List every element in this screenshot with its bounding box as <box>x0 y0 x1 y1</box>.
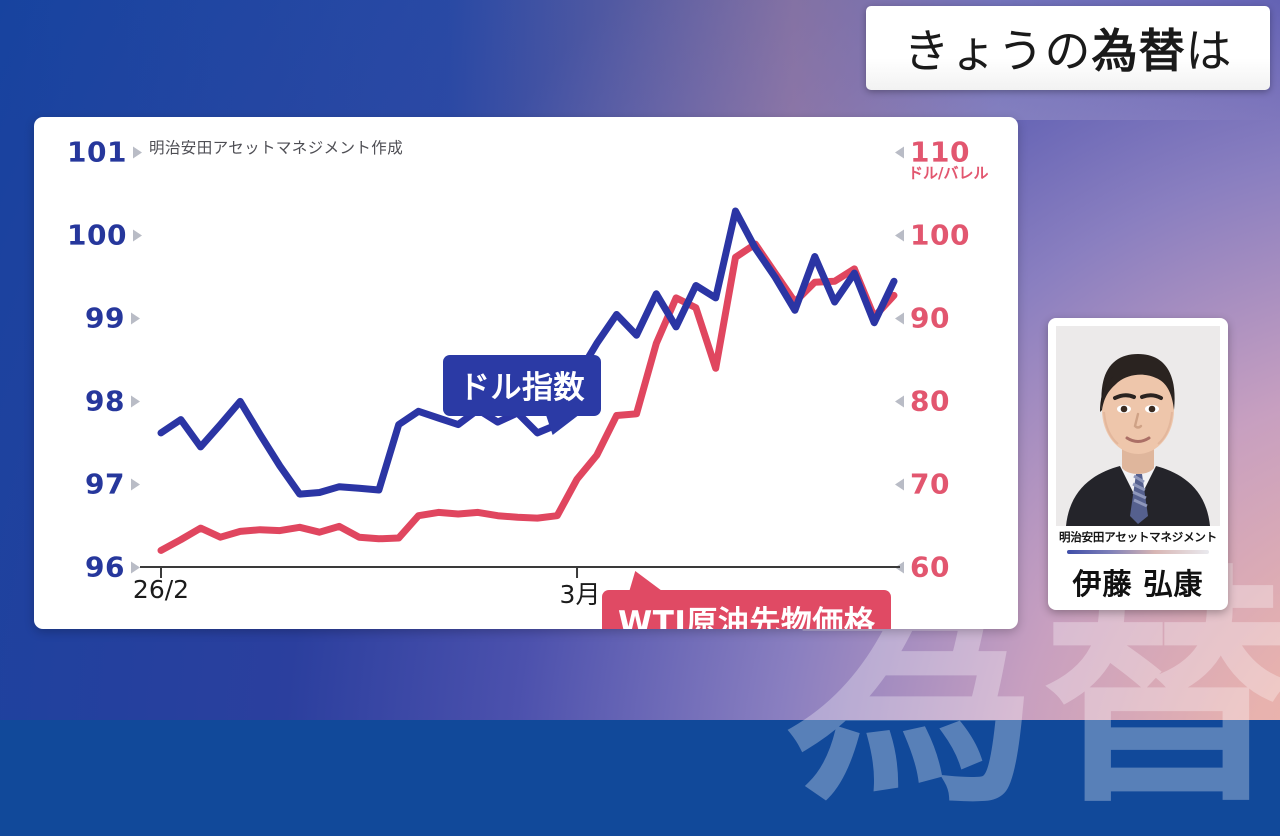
guest-name: 伊藤 弘康 <box>1048 561 1228 603</box>
callout-wti: WTI原油先物価格 <box>602 590 891 629</box>
page-title-prefix: きょうの <box>904 24 1092 78</box>
callout-dollar-index-label: ドル指数 <box>459 370 585 406</box>
guest-organization: 明治安田アセットマネジメント <box>1048 529 1228 545</box>
page-title-suffix: は <box>1186 24 1233 78</box>
callout-tail <box>623 571 664 593</box>
callout-dollar-index: ドル指数 <box>443 355 601 416</box>
x-axis-ticks <box>161 567 577 578</box>
series-line-dollar-index <box>161 211 894 494</box>
page-title-keyword: 為替 <box>1092 24 1186 78</box>
callout-tail <box>541 413 582 435</box>
guest-photo <box>1056 326 1220 526</box>
chart-panel: 明治安田アセットマネジメント作成 101 100 99 98 97 96 110… <box>34 117 1018 629</box>
x-axis-label-march: 3月 <box>560 575 601 611</box>
guest-card: 明治安田アセットマネジメント 伊藤 弘康 <box>1048 318 1228 610</box>
avatar <box>1056 326 1220 526</box>
callout-wti-label: WTI原油先物価格 <box>618 605 875 629</box>
header-title-plate: きょうの為替は <box>866 6 1270 90</box>
guest-divider <box>1067 550 1209 554</box>
page-title: きょうの為替は <box>904 15 1233 81</box>
x-axis-label-start: 26/2 <box>133 575 189 604</box>
